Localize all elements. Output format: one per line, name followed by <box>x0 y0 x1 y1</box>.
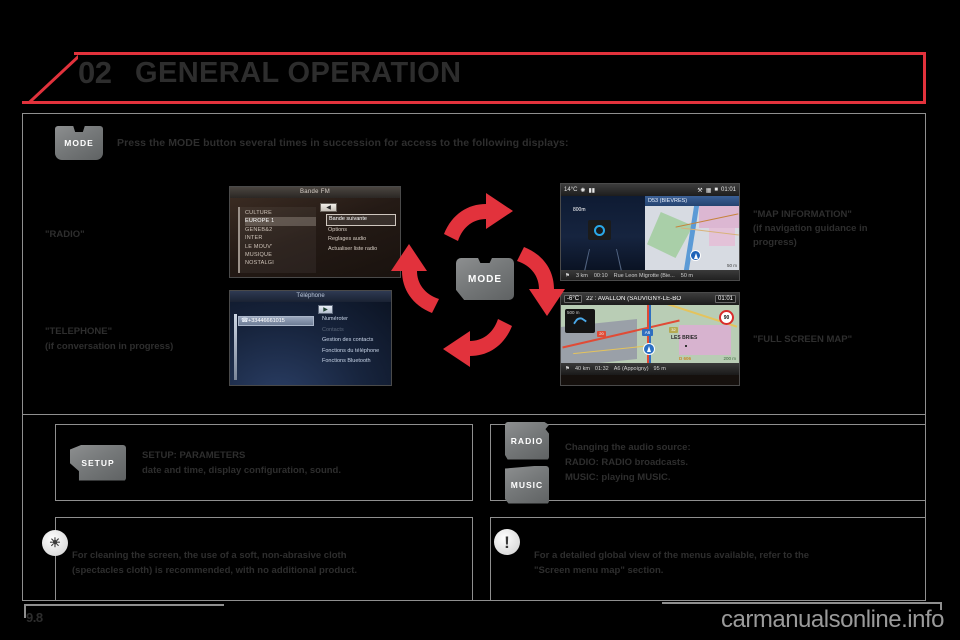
nav-road-banner: D53 (BIEVRES) <box>645 196 739 206</box>
content-divider <box>22 414 926 415</box>
page-title: GENERAL OPERATION <box>135 57 461 90</box>
radio-screen-title: Bande FM <box>230 187 400 198</box>
roundabout-icon <box>588 220 611 240</box>
setup-line-1: SETUP: PARAMETERS <box>142 448 341 463</box>
list-item[interactable]: LE MOUV' <box>245 243 316 251</box>
radio-screen-body: ◀ CULTURE EUROPE 1 GENEB&2 INTER LE MOUV… <box>230 198 400 278</box>
nav-footer-street: Rue Leon Migrotte (Bie... <box>614 273 675 279</box>
label-map-information-note: (if navigation guidance in progress) <box>753 222 903 250</box>
mode-intro-row: MODE Press the MODE button several times… <box>55 126 569 160</box>
map-information-screen: 14°C ✺ ▮▮ ⚒ ▦ ■ 01:01 800m D53 (BIEVRES) <box>560 183 740 281</box>
menu-item[interactable]: Bande suivante <box>326 214 396 226</box>
road-perspective-graphic <box>584 249 622 270</box>
tip-line-2: (spectacles cloth) is recommended, with … <box>72 563 452 578</box>
list-item[interactable]: NOSTALGI <box>245 259 316 267</box>
nav-footer-flag-icon: ⚑ <box>565 273 570 279</box>
next-turn-preview: 500 m <box>565 309 595 333</box>
map-destination: 22 : AVALLON (SAUVIGNY-LE-BO <box>586 296 711 302</box>
map-footer-remaining: 95 m <box>654 366 666 372</box>
nav-fan-icon: ✺ <box>580 187 585 194</box>
setup-line-2: date and time, display configuration, so… <box>142 463 341 478</box>
full-screen-map-screen: -6°C 22 : AVALLON (SAUVIGNY-LE-BO 01:01 … <box>560 292 740 386</box>
nav-body: 800m D53 (BIEVRES) 50 m <box>561 196 739 270</box>
battery-icon: ■ <box>714 187 718 193</box>
list-item[interactable]: MUSIQUE <box>245 251 316 259</box>
telephone-screen: Téléphone ▶ +33446661015 Numéroter Conta… <box>229 290 392 386</box>
menu-item[interactable]: Actualiser liste radio <box>326 245 396 255</box>
header-bottom-rule <box>22 101 926 104</box>
radio-screen: Bande FM ◀ CULTURE EUROPE 1 GENEB&2 INTE… <box>229 186 401 278</box>
road-shield-a6: A6 <box>642 329 653 336</box>
map-footer-flag-icon: ⚑ <box>565 366 570 372</box>
chapter-number: 02 <box>78 55 111 91</box>
audio-text: Changing the audio source: RADIO: RADIO … <box>565 440 691 485</box>
telephone-context-menu[interactable]: Numéroter Contacts Gestion des contacts … <box>322 314 390 367</box>
map-temperature: -6°C <box>564 295 582 303</box>
nav-seat-icon: ▮▮ <box>588 187 595 194</box>
menu-item[interactable]: Gestion des contacts <box>322 335 390 346</box>
menu-item[interactable]: Numéroter <box>322 314 390 325</box>
header-top-rule <box>74 52 926 55</box>
list-item[interactable]: EUROPE 1 <box>245 217 316 225</box>
nav-distance-to-turn: 800m <box>573 204 586 213</box>
signal-icon: ▦ <box>706 187 712 194</box>
setup-button-icon[interactable]: SETUP <box>70 445 126 481</box>
tip-text: For cleaning the screen, the use of a so… <box>72 548 452 578</box>
map-footer-bar: ⚑ 40 km 01:32 A6 (Appoigny) 95 m <box>561 363 739 375</box>
vehicle-position-icon <box>643 343 655 355</box>
label-map-information: "MAP INFORMATION" <box>753 208 852 222</box>
nav-footer-bar: ⚑ 3 km 00:10 Rue Leon Migrotte (Bie... 5… <box>561 270 739 281</box>
nav-distance-unit: m <box>581 207 585 213</box>
radio-button-icon[interactable]: RADIO <box>505 422 549 460</box>
radio-station-list[interactable]: CULTURE EUROPE 1 GENEB&2 INTER LE MOUV' … <box>238 207 316 273</box>
radio-context-menu[interactable]: Bande suivante Options Reglages audio Ac… <box>326 214 396 254</box>
mode-intro-text: Press the MODE button several times in s… <box>117 137 569 149</box>
map-footer-eta: 01:32 <box>595 366 609 372</box>
road-shield-yellow: 32 <box>669 327 678 333</box>
list-item[interactable]: INTER <box>245 234 316 242</box>
audio-button-stack: RADIO MUSIC <box>505 422 549 504</box>
menu-item: Contacts <box>322 325 390 336</box>
nav-guidance-pane: 800m <box>561 196 645 270</box>
nav-map-scale: 50 m <box>727 263 737 268</box>
music-button-icon[interactable]: MUSIC <box>505 466 549 504</box>
warning-exclamation-icon: ! <box>494 529 520 555</box>
map-orange-road-label: D 606 <box>679 356 691 361</box>
menu-item[interactable]: Reglages audio <box>326 235 396 245</box>
warning-line-2: "Screen menu map" section. <box>534 563 914 578</box>
telephone-tab-right-icon[interactable]: ▶ <box>318 305 333 314</box>
setup-text: SETUP: PARAMETERS date and time, display… <box>142 448 341 478</box>
audio-line-3: MUSIC: playing MUSIC. <box>565 470 691 485</box>
mode-button-icon[interactable]: MODE <box>55 126 103 160</box>
page-number: 9.8 <box>26 610 43 625</box>
header-diagonal-accent <box>22 52 78 104</box>
warning-text: For a detailed global view of the menus … <box>534 548 914 578</box>
next-turn-distance: 500 m <box>567 310 580 315</box>
road-shield-red: 20 <box>597 331 606 337</box>
map-town-label: LES BRIES <box>671 335 697 341</box>
audio-line-2: RADIO: RADIO broadcasts. <box>565 455 691 470</box>
map-scale: 200 m <box>723 356 736 361</box>
label-telephone-note: (if conversation in progress) <box>45 340 173 354</box>
warning-line-1: For a detailed global view of the menus … <box>534 548 914 563</box>
mode-button-center[interactable]: MODE <box>456 258 514 300</box>
footer-right-rule <box>662 602 942 604</box>
label-radio: "RADIO" <box>45 228 85 242</box>
telephone-screen-title: Téléphone <box>230 291 391 302</box>
list-item[interactable]: GENEB&2 <box>245 226 316 234</box>
menu-item[interactable]: Options <box>326 226 396 236</box>
header-right-rule <box>923 52 926 104</box>
telephone-screen-body: ▶ +33446661015 Numéroter Contacts Gestio… <box>230 302 391 385</box>
menu-item[interactable]: Fonctions du téléphone <box>322 346 390 357</box>
watermark: carmanualsonline.info <box>721 606 944 634</box>
audio-source-info-box: RADIO MUSIC Changing the audio source: R… <box>490 424 926 501</box>
map-clock: 01:01 <box>715 295 736 303</box>
setup-info-box: SETUP SETUP: PARAMETERS date and time, d… <box>55 424 473 501</box>
map-status-bar: -6°C 22 : AVALLON (SAUVIGNY-LE-BO 01:01 <box>561 293 739 305</box>
radio-tab-left-icon[interactable]: ◀ <box>320 203 337 212</box>
tip-line-1: For cleaning the screen, the use of a so… <box>72 548 452 563</box>
nav-footer-eta: 00:10 <box>594 273 608 279</box>
nav-footer-remaining: 50 m <box>681 273 693 279</box>
footer-left-rule <box>24 604 224 606</box>
nav-minimap[interactable]: 50 m <box>645 206 739 270</box>
telephone-scrollbar[interactable] <box>234 314 237 380</box>
label-telephone: "TELEPHONE" <box>45 325 112 339</box>
label-full-screen-map: "FULL SCREEN MAP" <box>753 333 852 347</box>
audio-line-1: Changing the audio source: <box>565 440 691 455</box>
manual-page: 02 GENERAL OPERATION MODE Press the MODE… <box>0 0 960 640</box>
map-footer-road: A6 (Appoigny) <box>614 366 649 372</box>
nav-status-bar: 14°C ✺ ▮▮ ⚒ ▦ ■ 01:01 <box>561 184 739 196</box>
nav-footer-distance: 3 km <box>576 273 588 279</box>
nav-map-pane[interactable]: D53 (BIEVRES) 50 m <box>645 196 739 270</box>
nav-temperature: 14°C <box>564 187 577 193</box>
speed-limit-icon: 90 <box>719 310 734 325</box>
tip-bulb-icon: ☀ <box>42 530 68 556</box>
vehicle-position-icon <box>690 250 701 261</box>
bluetooth-icon: ⚒ <box>697 187 702 194</box>
map-footer-distance: 40 km <box>575 366 590 372</box>
nav-clock: 01:01 <box>721 187 736 193</box>
list-item[interactable]: CULTURE <box>245 209 316 217</box>
map-canvas[interactable]: 20 A6 32 LES BRIES 500 m 90 D 606 200 m <box>561 305 739 363</box>
active-call-number[interactable]: +33446661015 <box>238 316 314 326</box>
menu-item[interactable]: Fonctions Bluetooth <box>322 356 390 367</box>
